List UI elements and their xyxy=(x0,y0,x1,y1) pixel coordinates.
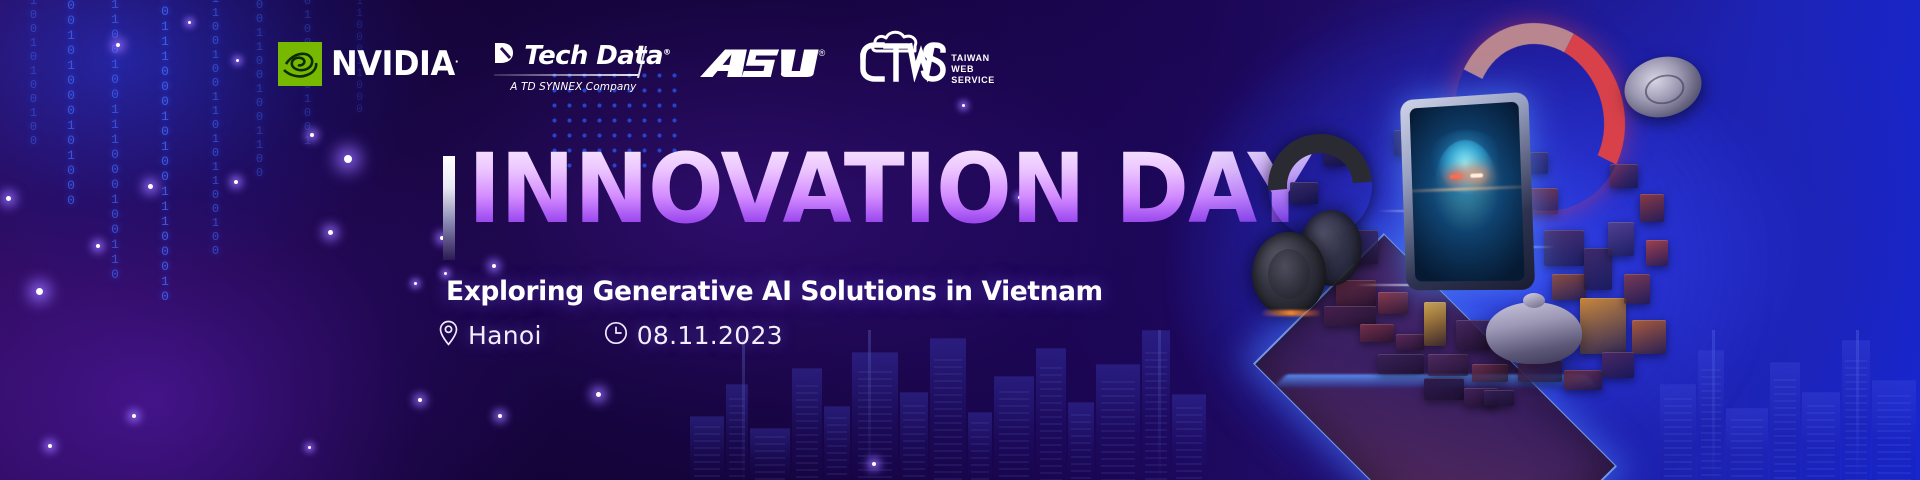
star-particle xyxy=(596,392,601,397)
skyline-building xyxy=(852,352,898,480)
hero-block xyxy=(1484,390,1514,406)
techdata-mark-icon xyxy=(492,40,518,71)
asus-logo: ® xyxy=(698,46,816,93)
star-particle xyxy=(132,414,136,418)
star-particle xyxy=(116,43,120,47)
techdata-tagline: A TD SYNNEX Company xyxy=(510,81,636,93)
skyline-building xyxy=(1770,362,1800,480)
techdata-rule xyxy=(494,74,639,76)
clock-icon xyxy=(604,321,628,350)
hero-block xyxy=(1378,354,1424,374)
nvidia-wordmark: NVIDIA. xyxy=(331,47,458,81)
tws-line-2: WEB xyxy=(951,64,995,74)
headphone-accent-glow xyxy=(1262,310,1320,316)
cloud-icon xyxy=(871,29,927,53)
nvidia-eye-icon xyxy=(278,42,322,86)
nvidia-logo: NVIDIA. xyxy=(278,42,466,86)
skyline-spire xyxy=(742,340,745,480)
star-particle xyxy=(418,398,422,402)
hero-block xyxy=(1360,324,1394,342)
skyline-building xyxy=(1068,402,1094,480)
star-particle xyxy=(6,196,11,201)
skyline-building xyxy=(690,416,724,480)
hero-block xyxy=(1424,378,1464,400)
event-subtitle: Exploring Generative AI Solutions in Vie… xyxy=(446,276,1103,307)
skyline-building xyxy=(994,376,1034,480)
star-particle xyxy=(36,288,43,295)
techdata-wordmark: Tech Data® xyxy=(524,43,670,69)
skyline-building xyxy=(930,338,966,480)
headphones-graphic xyxy=(1246,134,1382,324)
genai-brand-title: G EN AI xyxy=(112,142,441,239)
star-particle xyxy=(48,444,52,448)
ai-face-eye-right xyxy=(1470,173,1483,178)
star-particle xyxy=(492,264,496,268)
hero-block xyxy=(1472,364,1508,382)
headphone-earcup-front xyxy=(1252,232,1326,316)
location-pin-icon xyxy=(438,320,459,351)
star-particle xyxy=(444,272,447,275)
star-particle xyxy=(498,414,502,418)
hero-block xyxy=(1640,194,1664,222)
event-banner: 0100101001001000101000101000011001001110… xyxy=(0,0,1920,480)
date-label: 08.11.2023 xyxy=(637,321,783,350)
skyline-building xyxy=(1872,380,1916,480)
hero-block xyxy=(1646,240,1668,266)
asus-trademark: ® xyxy=(819,48,826,58)
tws-line-3: SERVICE xyxy=(951,75,995,85)
tws-line-1: TAIWAN xyxy=(951,53,995,63)
hero-block xyxy=(1602,352,1634,378)
event-location: Hanoi xyxy=(438,320,542,351)
skyline-building xyxy=(900,392,928,480)
dome-appliance xyxy=(1486,302,1582,364)
star-particle xyxy=(414,282,417,285)
skyline-spire xyxy=(868,330,871,480)
event-date: 08.11.2023 xyxy=(604,321,783,350)
skyline-building xyxy=(750,428,790,480)
sponsor-logo-row: NVIDIA. Tech Data® A TD SYNNEX Company xyxy=(278,36,995,98)
hero-block xyxy=(1552,274,1586,300)
hero-block xyxy=(1396,334,1424,350)
ai-face-eye-left xyxy=(1450,174,1463,179)
hero-block xyxy=(1564,370,1602,390)
genai-letters-ai: AI xyxy=(311,142,422,239)
tws-logo: TAIWAN WEB SERVICE xyxy=(860,42,995,88)
tablet-device xyxy=(1400,92,1535,291)
asus-wordmark xyxy=(698,46,821,86)
hero-block xyxy=(1378,292,1408,314)
star-particle xyxy=(96,244,100,248)
star-particle xyxy=(308,446,311,449)
hero-block xyxy=(1624,274,1650,304)
tws-tagline: TAIWAN WEB SERVICE xyxy=(951,53,995,88)
event-meta-row: Hanoi 08.11.2023 xyxy=(438,320,783,351)
genai-letter-g: G xyxy=(112,142,193,239)
hero-block xyxy=(1424,302,1446,346)
binary-column: 1000101000101000 xyxy=(64,0,78,178)
dome-knob xyxy=(1523,293,1545,308)
headline-divider xyxy=(443,156,455,260)
skyline-building xyxy=(1802,392,1840,480)
star-particle xyxy=(236,59,239,62)
skyline-building xyxy=(1096,364,1140,480)
hero-block xyxy=(1544,230,1584,266)
techdata-logo: Tech Data® A TD SYNNEX Company xyxy=(492,40,640,71)
star-particle xyxy=(872,462,876,466)
tablet-screen xyxy=(1410,102,1525,282)
skyline-building xyxy=(1036,348,1066,480)
skyline-spire xyxy=(1856,330,1859,480)
skyline-building xyxy=(1142,330,1170,480)
hero-block xyxy=(1632,320,1666,354)
skyline-spire xyxy=(1158,330,1161,480)
skyline-building xyxy=(824,406,850,480)
skyline-building xyxy=(968,412,992,480)
location-label: Hanoi xyxy=(468,321,542,350)
binary-column: 010010100100 xyxy=(26,0,40,130)
ai-isometric-illustration xyxy=(1228,14,1698,470)
hero-block xyxy=(1428,354,1468,376)
hero-block xyxy=(1456,320,1490,350)
skyline-building xyxy=(792,368,822,480)
star-particle xyxy=(188,21,191,24)
genai-letters-en: EN xyxy=(206,177,297,236)
hero-block xyxy=(1608,222,1634,256)
hero-block xyxy=(1580,298,1626,354)
star-particle xyxy=(962,104,965,107)
binary-column: 010011001001100 xyxy=(252,0,266,150)
